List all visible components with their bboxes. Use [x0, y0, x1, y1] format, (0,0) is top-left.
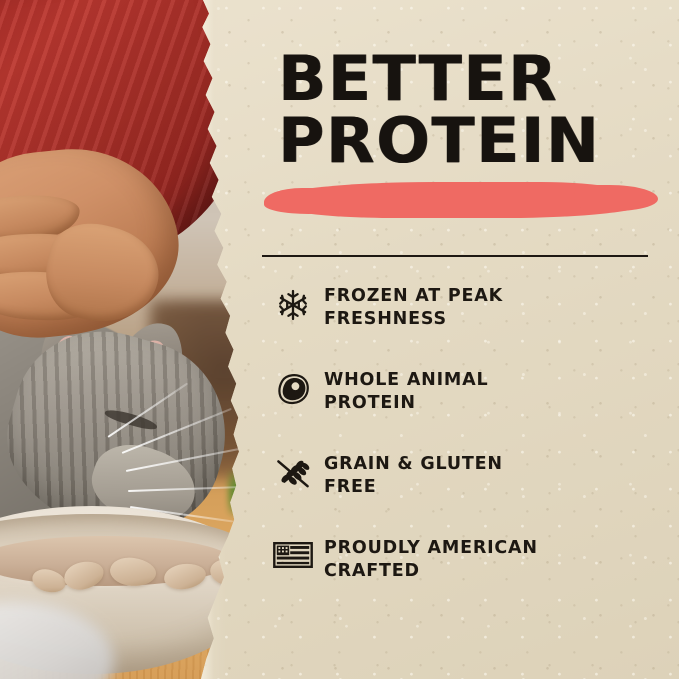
feature-item: GRAIN & GLUTEN FREE: [262, 452, 662, 536]
feature-label: PROUDLY AMERICAN CRAFTED: [324, 536, 538, 584]
horizontal-divider: [262, 255, 648, 257]
feature-item: PROUDLY AMERICAN CRAFTED: [262, 536, 662, 620]
snowflake-icon: [262, 284, 324, 322]
feature-item: FROZEN AT PEAK FRESHNESS: [262, 284, 662, 368]
panel-content: BETTER PROTEIN: [262, 0, 662, 679]
red-brush-stroke-highlight: [270, 182, 648, 218]
feature-label-line-2: FREE: [324, 477, 377, 497]
feature-label-line-1: PROUDLY AMERICAN: [324, 538, 538, 558]
steak-icon: [262, 368, 324, 406]
american-flag-icon: [262, 536, 324, 570]
headline-line-2: PROTEIN: [278, 112, 670, 170]
headline: BETTER PROTEIN: [278, 50, 662, 169]
feature-label-line-2: CRAFTED: [324, 561, 420, 581]
food-chunk: [163, 562, 207, 591]
food-chunk: [29, 565, 68, 596]
feature-label-line-2: PROTEIN: [324, 393, 416, 413]
wheat-crossed-out-icon: [262, 452, 324, 492]
feature-label-line-1: GRAIN & GLUTEN: [324, 454, 503, 474]
feature-label-line-1: FROZEN AT PEAK: [324, 286, 503, 306]
bowl-food: [0, 536, 232, 586]
feature-label: GRAIN & GLUTEN FREE: [324, 452, 503, 500]
feature-label: FROZEN AT PEAK FRESHNESS: [324, 284, 503, 332]
feature-list: FROZEN AT PEAK FRESHNESS WHOLE ANIMAL PR…: [262, 284, 662, 620]
feature-item: WHOLE ANIMAL PROTEIN: [262, 368, 662, 452]
feature-label-line-2: FRESHNESS: [324, 309, 447, 329]
product-feature-poster: BETTER PROTEIN: [0, 0, 679, 679]
feature-label-line-1: WHOLE ANIMAL: [324, 370, 488, 390]
food-chunk: [62, 558, 107, 593]
headline-line-1: BETTER: [278, 50, 670, 108]
feature-label: WHOLE ANIMAL PROTEIN: [324, 368, 488, 416]
food-chunk: [108, 555, 157, 589]
